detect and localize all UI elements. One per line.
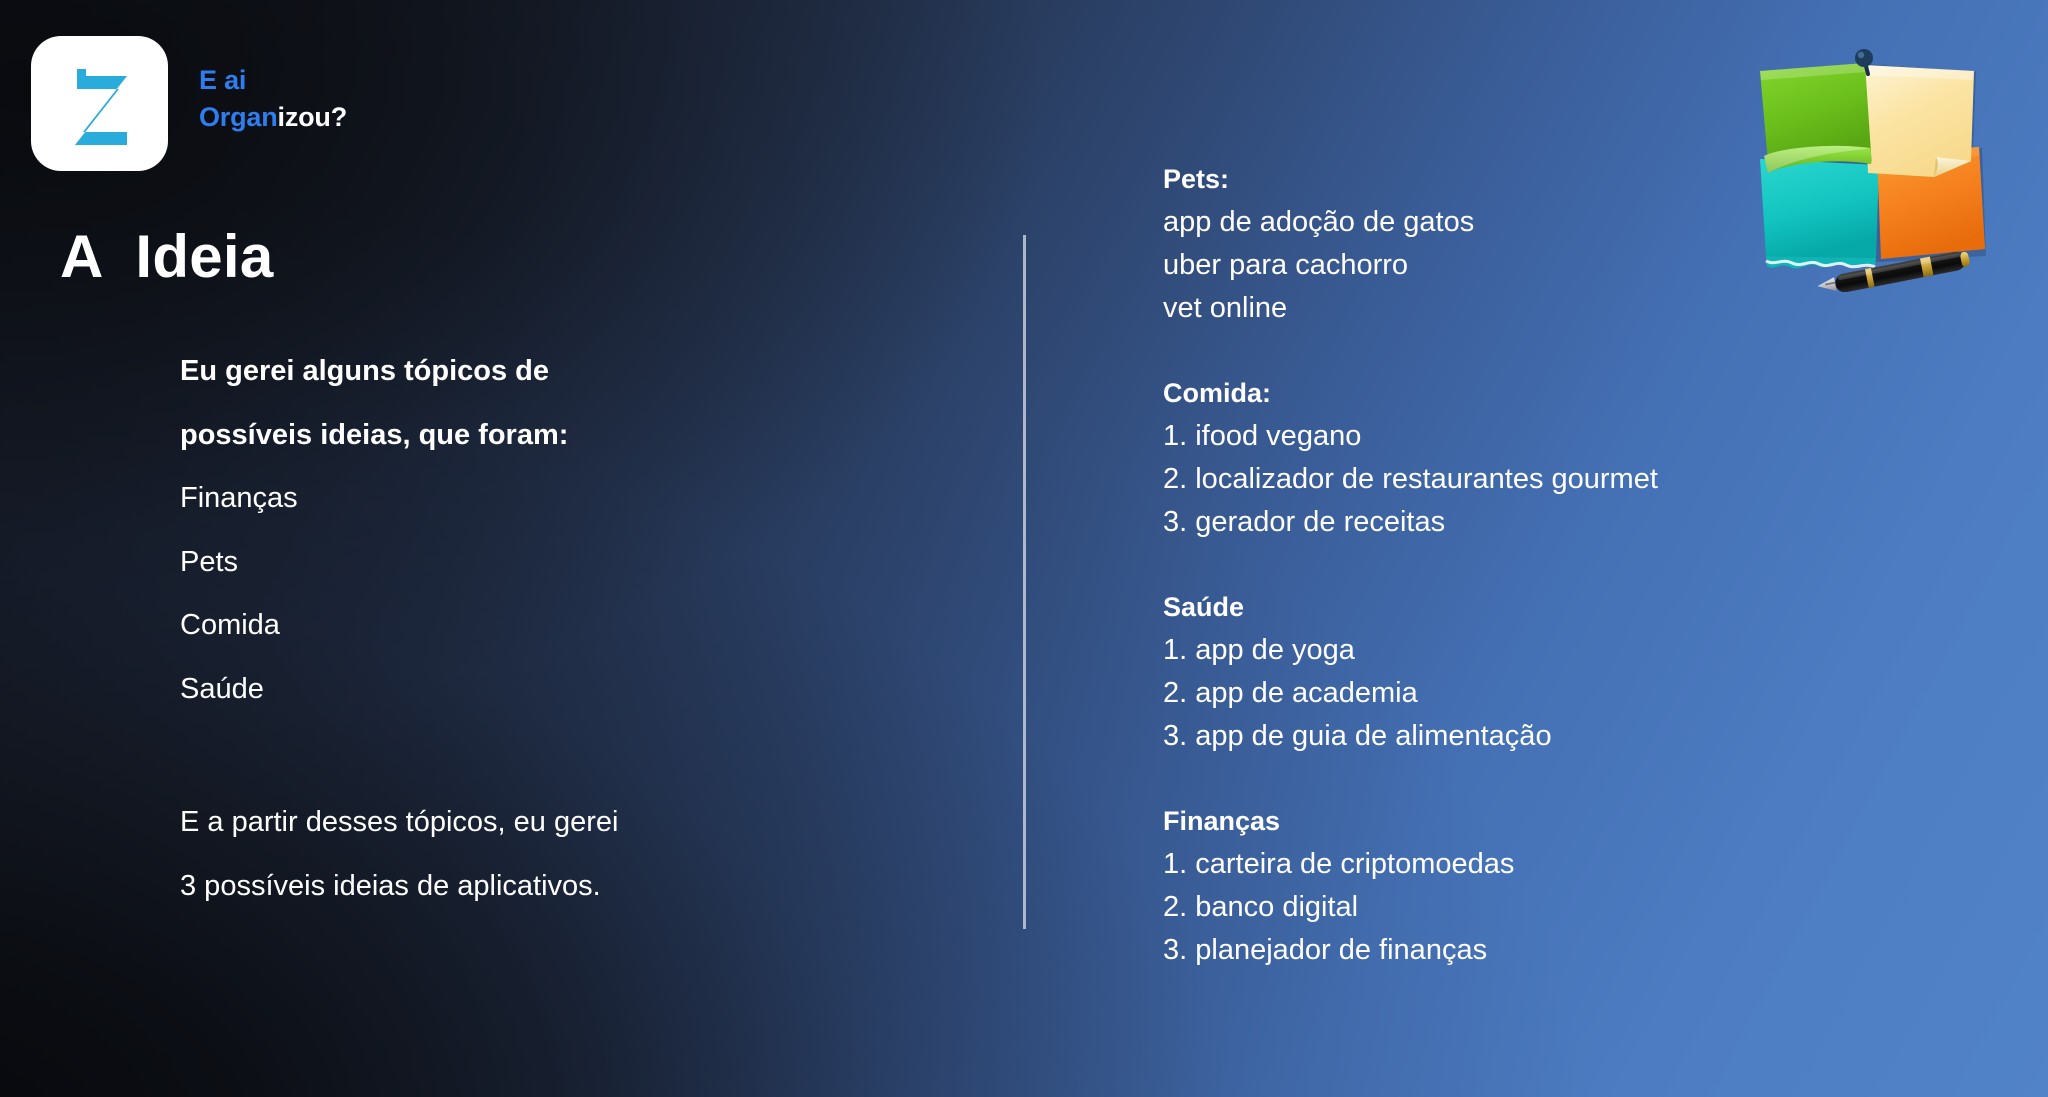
- left-tail-block: E a partir desses tópicos, eu gerei 3 po…: [180, 790, 940, 918]
- idea-group: Comida: 1. ifood vegano 2. localizador d…: [1163, 372, 2003, 544]
- intro-line: Eu gerei alguns tópicos de: [180, 340, 880, 404]
- left-intro-block: Eu gerei alguns tópicos de possíveis ide…: [180, 340, 880, 721]
- idea-item: 2. localizador de restaurantes gourmet: [1163, 458, 2003, 501]
- topic-item: Finanças: [180, 467, 880, 531]
- note-teal: [1760, 159, 1879, 268]
- note-green: [1760, 63, 1872, 173]
- idea-group: Saúde 1. app de yoga 2. app de academia …: [1163, 586, 2003, 758]
- brand-line-2-white: izou?: [278, 102, 347, 132]
- idea-group-heading: Comida:: [1163, 372, 2003, 415]
- idea-item: 1. ifood vegano: [1163, 415, 2003, 458]
- topic-item: Pets: [180, 531, 880, 595]
- topic-item: Saúde: [180, 658, 880, 722]
- idea-item: 3. planejador de finanças: [1163, 929, 2003, 972]
- brand-lockup: E ai Organizou?: [31, 36, 347, 171]
- column-divider: [1023, 235, 1026, 929]
- brand-line-1: E ai: [199, 62, 347, 99]
- brand-wordmark: E ai Organizou?: [199, 36, 347, 137]
- letter-z-logo-icon: [31, 36, 168, 171]
- tail-line: 3 possíveis ideias de aplicativos.: [180, 854, 940, 918]
- idea-group: Finanças 1. carteira de criptomoedas 2. …: [1163, 800, 2003, 972]
- idea-item: 2. app de academia: [1163, 672, 2003, 715]
- idea-group-heading: Finanças: [1163, 800, 2003, 843]
- idea-item: vet online: [1163, 287, 2003, 330]
- idea-item: 2. banco digital: [1163, 886, 2003, 929]
- idea-item: 1. carteira de criptomoedas: [1163, 843, 2003, 886]
- idea-item: 3. app de guia de alimentação: [1163, 715, 2003, 758]
- note-cream: [1864, 65, 1974, 177]
- page-title: A Ideia: [60, 222, 274, 291]
- brand-line-2-blue: Organ: [199, 102, 278, 132]
- brand-line-2: Organizou?: [199, 99, 347, 136]
- idea-item: 1. app de yoga: [1163, 629, 2003, 672]
- sticky-notes-and-pen-icon: [1738, 30, 2018, 292]
- intro-line: possíveis ideias, que foram:: [180, 404, 880, 468]
- idea-group-heading: Saúde: [1163, 586, 2003, 629]
- idea-item: 3. gerador de receitas: [1163, 501, 2003, 544]
- tail-line: E a partir desses tópicos, eu gerei: [180, 790, 940, 854]
- slide-root: E ai Organizou? A Ideia Eu gerei alguns …: [0, 0, 2048, 1097]
- topic-item: Comida: [180, 594, 880, 658]
